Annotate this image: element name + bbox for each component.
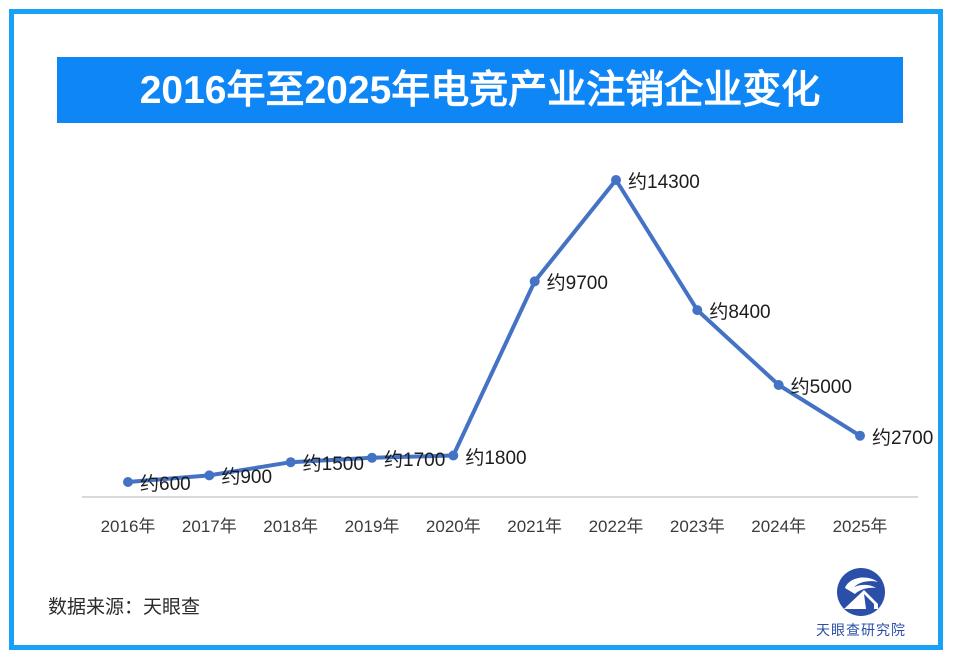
- x-axis-tick-label: 2018年: [263, 512, 318, 537]
- x-axis-tick-label: 2020年: [426, 512, 481, 537]
- data-point-label: 约1500: [303, 449, 364, 476]
- data-point-marker[interactable]: [286, 457, 296, 467]
- data-point-marker[interactable]: [692, 305, 702, 315]
- x-axis-tick-label: 2019年: [345, 512, 400, 537]
- tianyancha-eagle-logo-icon: [833, 568, 889, 617]
- x-axis-tick-label: 2022年: [589, 512, 644, 537]
- data-point-label: 约9700: [547, 268, 608, 295]
- line-chart: 约600约900约1500约1700约1800约9700约14300约8400约…: [0, 0, 960, 667]
- data-point-label: 约5000: [791, 372, 852, 399]
- data-point-marker[interactable]: [367, 453, 377, 463]
- data-point-marker[interactable]: [448, 451, 458, 461]
- data-point-label: 约1700: [384, 445, 445, 472]
- data-point-label: 约600: [140, 469, 191, 496]
- data-point-marker[interactable]: [530, 276, 540, 286]
- data-point-label: 约8400: [709, 297, 770, 324]
- x-axis-tick-label: 2023年: [670, 512, 725, 537]
- x-axis-tick-label: 2021年: [507, 512, 562, 537]
- brand-wordmark: 天眼查研究院: [816, 620, 906, 640]
- data-point-marker[interactable]: [204, 470, 214, 480]
- chart-svg: [0, 0, 960, 667]
- data-point-label: 约2700: [872, 423, 933, 450]
- data-point-marker[interactable]: [123, 477, 133, 487]
- data-point-label: 约1800: [465, 443, 526, 470]
- x-axis-tick-label: 2025年: [833, 512, 888, 537]
- series-line-path: [128, 180, 860, 482]
- x-axis-tick-label: 2016年: [101, 512, 156, 537]
- brand-logo: 天眼查研究院: [800, 568, 922, 644]
- data-point-label: 约900: [221, 462, 272, 489]
- data-point-marker[interactable]: [855, 431, 865, 441]
- data-point-marker[interactable]: [774, 380, 784, 390]
- data-point-markers: [123, 175, 865, 487]
- data-source-note: 数据来源：天眼查: [48, 592, 200, 619]
- x-axis-tick-label: 2024年: [751, 512, 806, 537]
- data-point-marker[interactable]: [611, 175, 621, 185]
- x-axis-tick-label: 2017年: [182, 512, 237, 537]
- infographic-poster: 2016年至2025年电竞产业注销企业变化 约600约900约1500约1700…: [0, 0, 960, 667]
- data-point-label: 约14300: [628, 167, 700, 194]
